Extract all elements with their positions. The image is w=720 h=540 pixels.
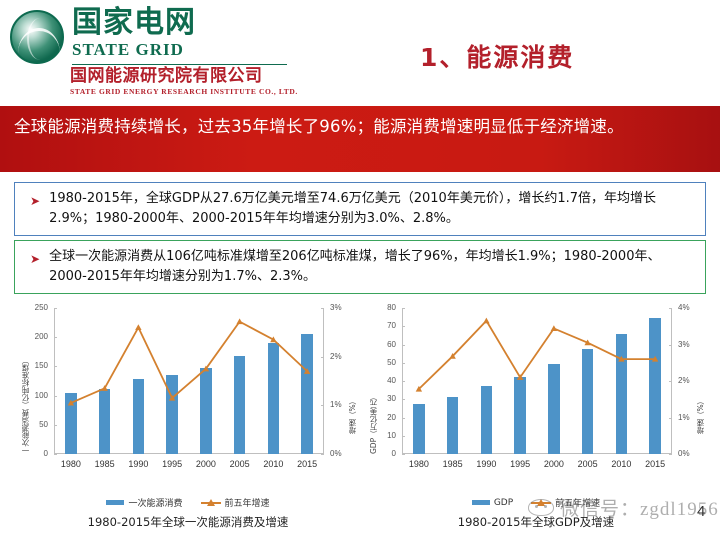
org-name-cn: 国网能源研究院有限公司	[70, 66, 298, 87]
legend-label-bar: GDP	[494, 498, 513, 508]
legend-item-line: 前五年增速	[201, 496, 270, 509]
legend-item-bar: GDP	[472, 498, 513, 508]
line-series-overlay	[366, 300, 706, 476]
line-marker-swatch-icon	[201, 498, 221, 507]
org-name-en: STATE GRID ENERGY RESEARCH INSTITUTE CO.…	[70, 87, 298, 97]
arrow-bullet-icon: ➤	[23, 247, 49, 287]
page-title: 1、能源消费	[420, 38, 574, 74]
line-series-overlay	[18, 300, 358, 476]
chart-energy-consumption: 一次能源消费（亿吨标准煤） 增速（%） 0501001502002500%1%2…	[18, 300, 358, 538]
legend-label-line: 前五年增速	[225, 496, 270, 509]
org-block: 国网能源研究院有限公司 STATE GRID ENERGY RESEARCH I…	[70, 66, 298, 97]
bullet-box-energy: ➤ 全球一次能源消费从106亿吨标准煤增至206亿吨标准煤，增长了96%，年均增…	[14, 240, 706, 294]
wechat-watermark: 微信号：zgdl1956	[528, 494, 719, 521]
bullet-text-energy: 全球一次能源消费从106亿吨标准煤增至206亿吨标准煤，增长了96%，年均增长1…	[49, 247, 697, 287]
legend-label-bar: 一次能源消费	[128, 496, 182, 509]
chart-energy-plot: 0501001502002500%1%2%3%19801985199019952…	[18, 300, 358, 476]
key-message-banner: 全球能源消费持续增长，过去35年增长了96%；能源消费增速明显低于经济增速。	[0, 106, 720, 172]
key-message-text: 全球能源消费持续增长，过去35年增长了96%；能源消费增速明显低于经济增速。	[14, 113, 706, 140]
bar-swatch-icon	[472, 500, 490, 505]
brand-block: 国家电网 STATE GRID	[72, 6, 196, 60]
wechat-icon	[528, 499, 554, 516]
state-grid-logo-icon	[10, 10, 64, 64]
chart-energy-caption: 1980-2015年全球一次能源消费及增速	[18, 514, 358, 530]
brand-name-en: STATE GRID	[72, 40, 196, 60]
arrow-bullet-icon: ➤	[23, 189, 49, 229]
brand-name-cn: 国家电网	[72, 6, 196, 40]
brand-divider	[72, 64, 287, 65]
page-number: 4	[697, 503, 705, 520]
legend-item-bar: 一次能源消费	[106, 496, 182, 509]
bullet-text-gdp: 1980-2015年，全球GDP从27.6万亿美元增至74.6万亿美元（2010…	[49, 189, 697, 229]
bar-swatch-icon	[106, 500, 124, 505]
slide-header: 国家电网 STATE GRID 国网能源研究院有限公司 STATE GRID E…	[0, 0, 720, 105]
slide: 国家电网 STATE GRID 国网能源研究院有限公司 STATE GRID E…	[0, 0, 720, 540]
chart-gdp-plot: 010203040506070800%1%2%3%4%1980198519901…	[366, 300, 706, 476]
bullet-box-gdp: ➤ 1980-2015年，全球GDP从27.6万亿美元增至74.6万亿美元（20…	[14, 182, 706, 236]
wechat-id-text: 微信号：zgdl1956	[560, 494, 719, 521]
chart-energy-legend: 一次能源消费 前五年增速	[18, 496, 358, 509]
